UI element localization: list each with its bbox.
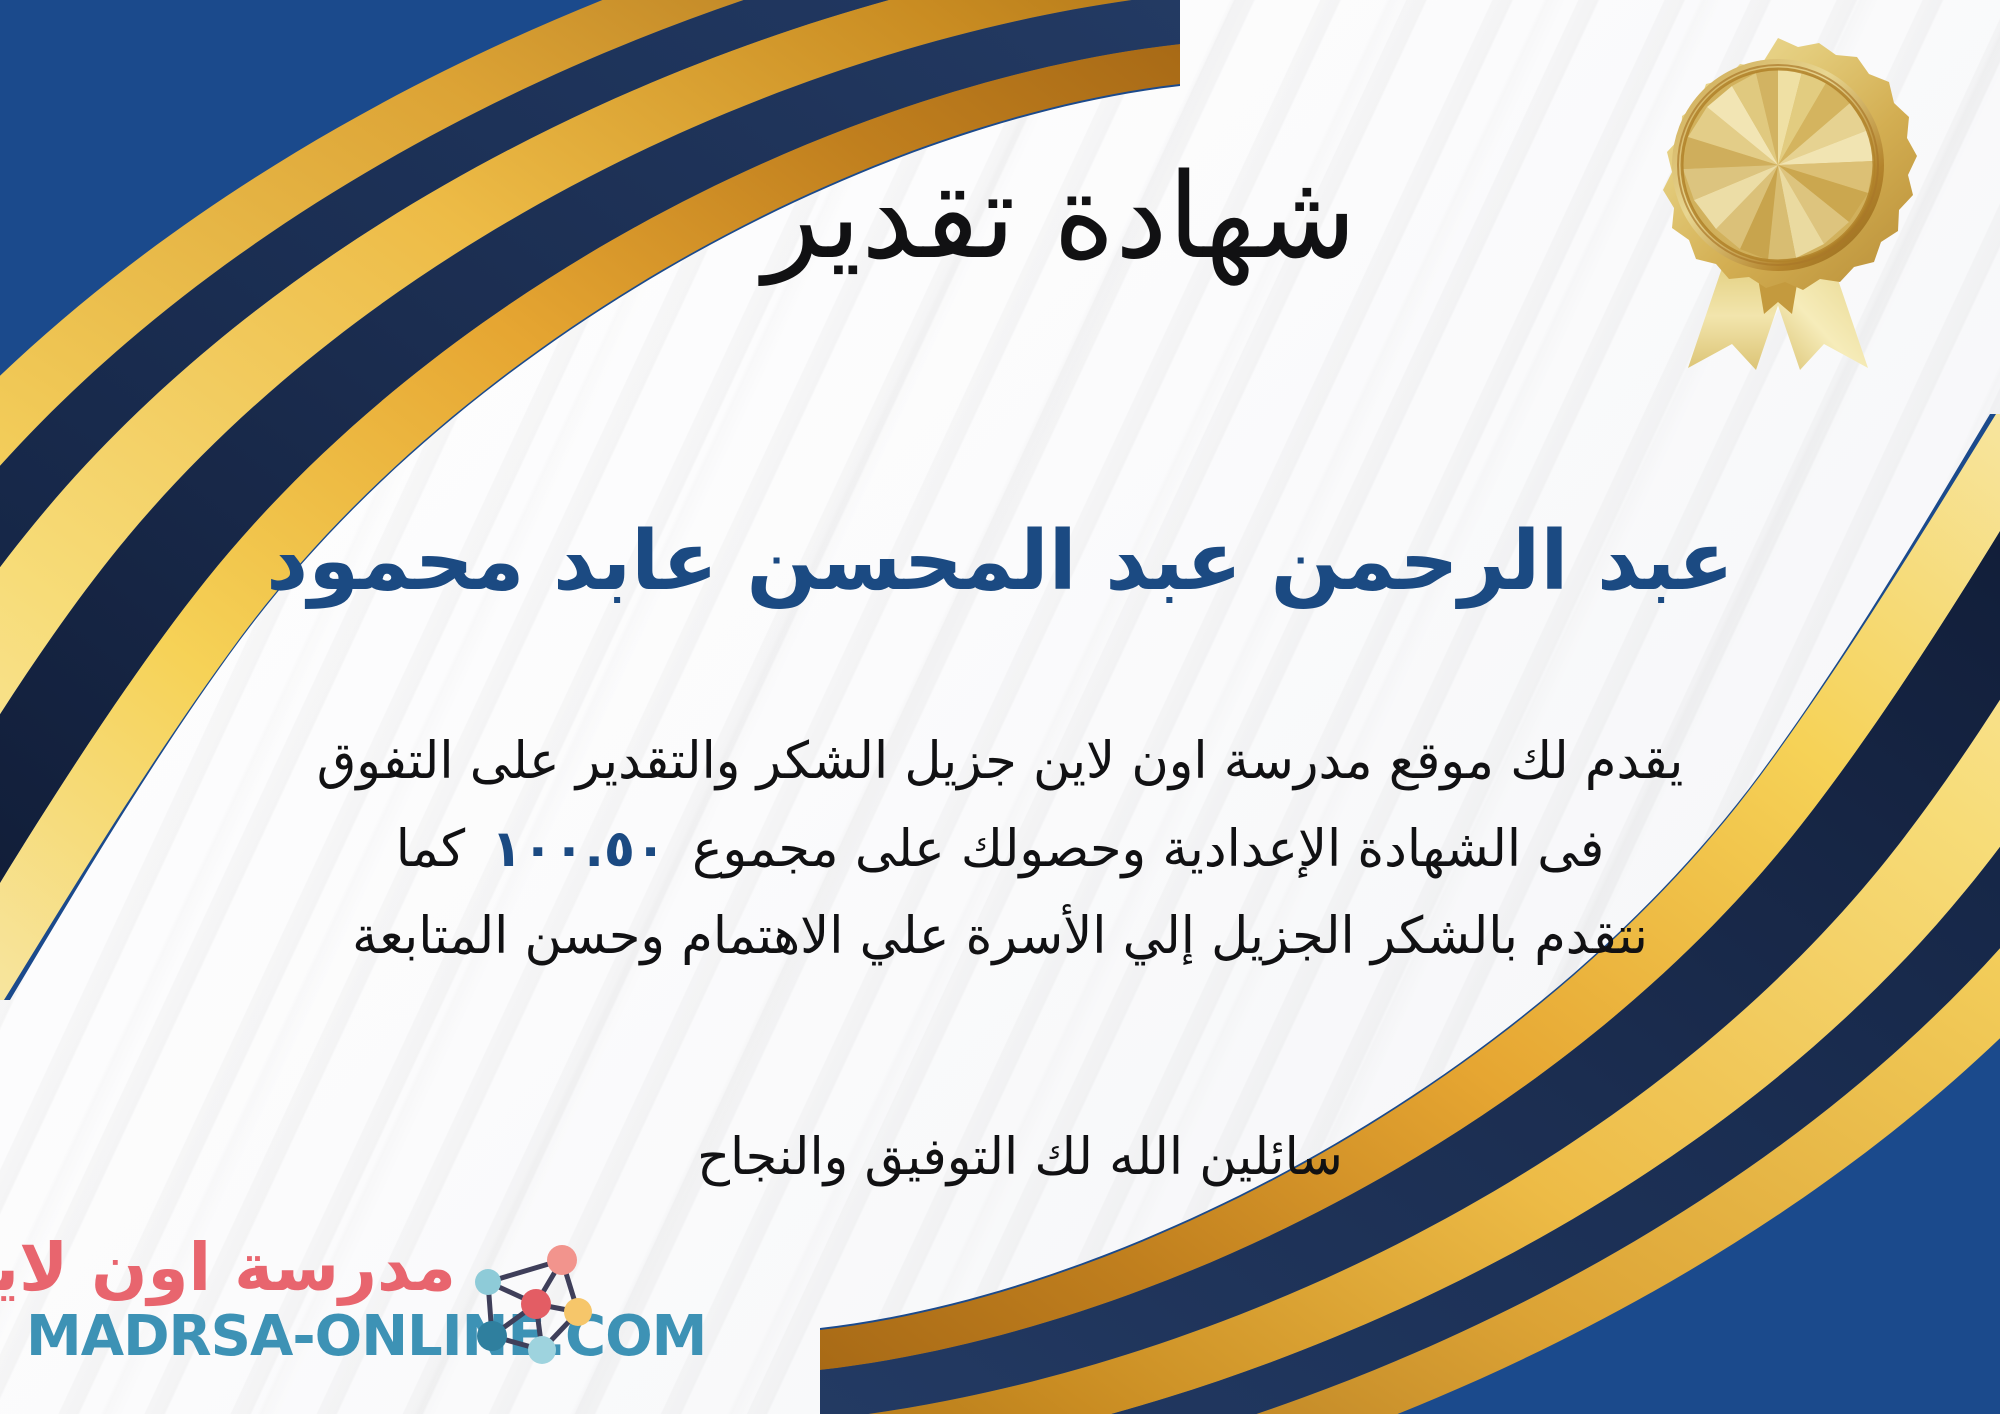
- node-pale-blue: [528, 1336, 556, 1364]
- body-line-1: يقدم لك موقع مدرسة اون لاين جزيل الشكر و…: [56, 718, 1944, 806]
- closing-wish-line: سائلين الله لك التوفيق والنجاح: [0, 1120, 2000, 1197]
- node-dark-blue: [477, 1321, 507, 1351]
- body-line-3: نتقدم بالشكر الجزيل إلي الأسرة علي الاهت…: [56, 893, 1944, 981]
- brand-text-rows: مدرسة اون لاين MADRSA-ONLINE.COM: [26, 1230, 456, 1367]
- body-line-2-suffix: كما: [396, 820, 465, 879]
- brand-arabic-name: مدرسة اون لاين: [26, 1230, 456, 1306]
- brand-logo[interactable]: مدرسة اون لاين MADRSA-ONLINE.COM: [26, 1230, 586, 1400]
- network-nodes-icon: [466, 1238, 598, 1370]
- node-light-blue: [475, 1269, 501, 1295]
- body-line-2-prefix: فى الشهادة الإعدادية وحصولك على مجموع: [692, 820, 1604, 879]
- brand-domain-text: MADRSA-ONLINE.COM: [26, 1306, 456, 1368]
- network-nodes: [475, 1245, 592, 1364]
- node-red: [521, 1289, 551, 1319]
- body-line-2: فى الشهادة الإعدادية وحصولك على مجموع١٠٠…: [56, 806, 1944, 894]
- node-yellow: [564, 1298, 592, 1326]
- node-coral: [547, 1245, 577, 1275]
- recipient-name: عبد الرحمن عبد المحسن عابد محمود: [0, 515, 2000, 609]
- certificate-title: شهادة تقدير: [0, 150, 2000, 282]
- total-score-value: ١٠٠.٥٠: [465, 820, 692, 879]
- certificate-body: يقدم لك موقع مدرسة اون لاين جزيل الشكر و…: [56, 718, 1944, 981]
- certificate-page: شهادة تقدير عبد الرحمن عبد المحسن عابد م…: [0, 0, 2000, 1414]
